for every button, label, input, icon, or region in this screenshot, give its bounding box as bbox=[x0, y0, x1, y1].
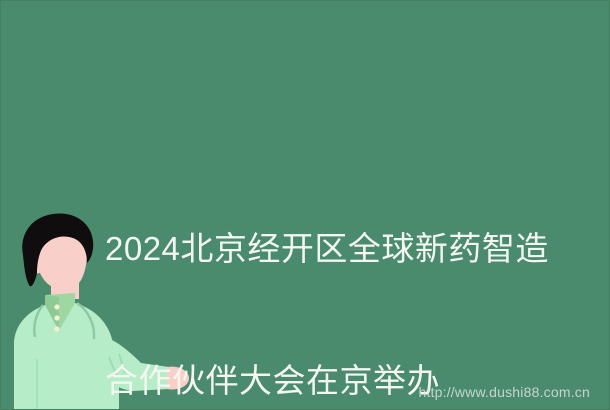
shirt-button bbox=[54, 326, 59, 331]
page-title: 2024北京经开区全球新药智造 合作伙伴大会在京举办 bbox=[105, 139, 575, 410]
source-url-watermark: http://www.dushi88.com.cn bbox=[418, 384, 590, 400]
shirt-button bbox=[54, 315, 59, 320]
poster-canvas: 2024北京经开区全球新药智造 合作伙伴大会在京举办 http://www.du… bbox=[0, 0, 610, 410]
page-title-line-1: 2024北京经开区全球新药智造 bbox=[105, 227, 575, 271]
shirt-button bbox=[54, 304, 59, 309]
